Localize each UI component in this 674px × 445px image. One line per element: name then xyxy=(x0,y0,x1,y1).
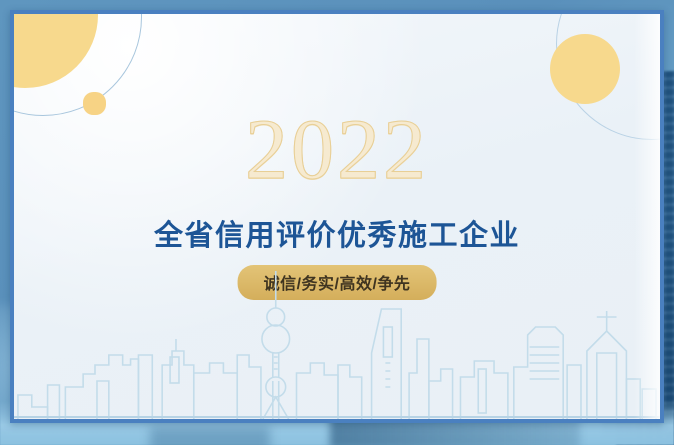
poster-canvas: 2022 全省信用评价优秀施工企业 诚信/务实/高效/争先 xyxy=(0,0,674,445)
city-skyline-svg xyxy=(14,269,660,419)
poster-frame-border: 2022 全省信用评价优秀施工企业 诚信/务实/高效/争先 xyxy=(10,10,664,423)
page-title: 全省信用评价优秀施工企业 xyxy=(14,212,660,254)
year-heading: 2022 xyxy=(14,106,660,192)
gold-circle-icon-top-right xyxy=(550,34,620,104)
background-bottom-shadow-left xyxy=(150,427,270,445)
card-edge-highlight xyxy=(634,14,660,419)
poster-card: 2022 全省信用评价优秀施工企业 诚信/务实/高效/争先 xyxy=(14,14,660,419)
city-skyline-icon xyxy=(14,269,660,419)
